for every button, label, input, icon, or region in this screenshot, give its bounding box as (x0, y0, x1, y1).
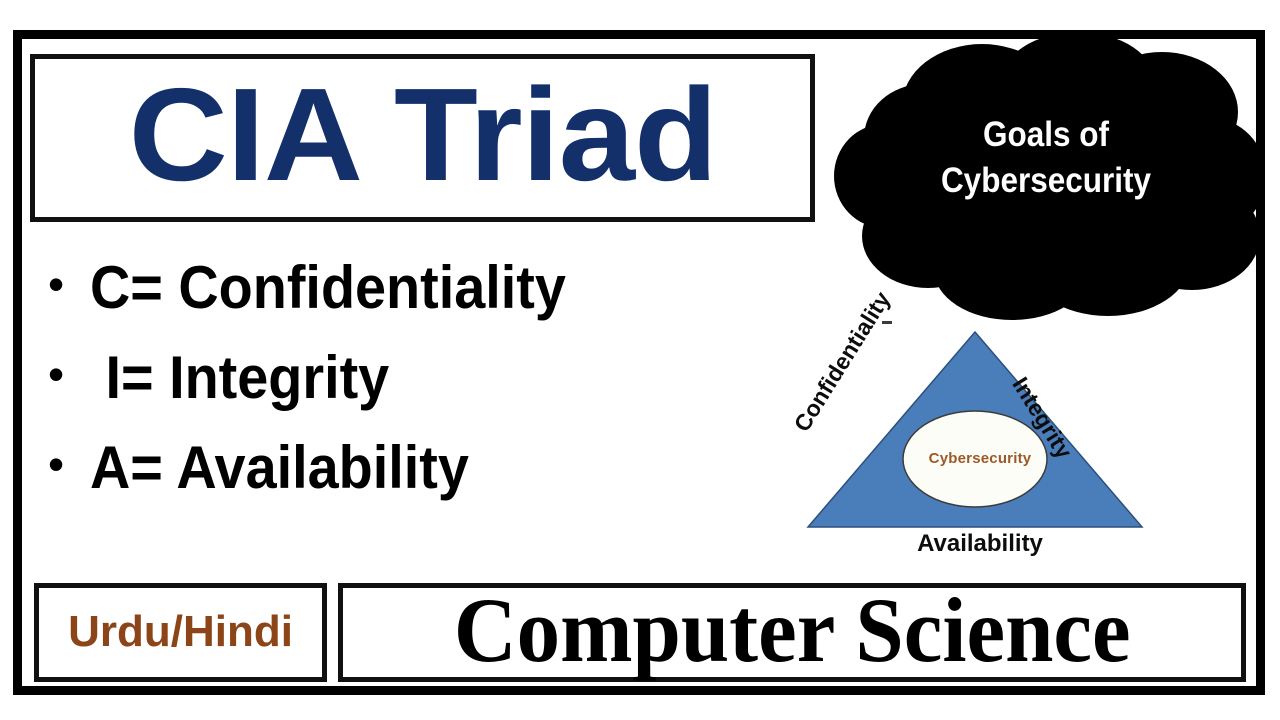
triangle-label-availability: Availability (790, 530, 1170, 558)
bullet-list: • C= Confidentiality • I= Integrity • A=… (34, 258, 774, 528)
language-box: Urdu/Hindi (34, 583, 327, 682)
cia-triangle-diagram: Cybersecurity Confidentiality Integrity … (790, 312, 1170, 564)
stray-dash-artifact (882, 321, 892, 324)
bullet-label-confidentiality: C= Confidentiality (90, 258, 566, 318)
bullet-marker-icon: • (34, 351, 90, 397)
slide-canvas: CIA Triad • C= Confidentiality • I= Inte… (0, 0, 1280, 720)
list-item: • C= Confidentiality (34, 258, 774, 348)
bullet-label-integrity: I= Integrity (90, 348, 389, 408)
goals-cloud: Goals of Cybersecurity (832, 26, 1260, 322)
subject-label: Computer Science (454, 585, 1131, 677)
page-title: CIA Triad (128, 69, 716, 201)
bullet-marker-icon: • (34, 261, 90, 307)
language-label: Urdu/Hindi (68, 610, 293, 654)
thought-cloud-icon (832, 26, 1260, 322)
bullet-label-availability: A= Availability (90, 438, 469, 498)
triangle-center-label: Cybersecurity (790, 450, 1170, 467)
subject-box: Computer Science (338, 583, 1246, 682)
list-item: • A= Availability (34, 438, 774, 528)
bullet-marker-icon: • (34, 441, 90, 487)
list-item: • I= Integrity (34, 348, 774, 438)
title-box: CIA Triad (30, 54, 815, 222)
